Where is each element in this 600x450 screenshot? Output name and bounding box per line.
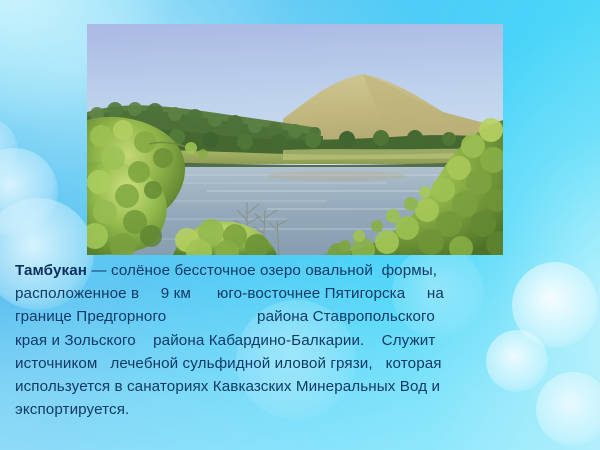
lake-photograph <box>87 24 503 255</box>
photo-hill-reflection <box>267 171 407 181</box>
caption-line-7: экспортируется. <box>15 398 587 421</box>
caption-lead-word: Тамбукан <box>15 262 87 279</box>
caption-line-1: — солёное бессточное озеро овальной форм… <box>87 262 437 279</box>
caption-line-5: источником лечебной сульфидной иловой гр… <box>15 352 587 375</box>
slide-caption: Тамбукан — солёное бессточное озеро овал… <box>15 259 587 421</box>
caption-line-4: края и Зольского района Кабардино-Балкар… <box>15 329 587 352</box>
lake-photograph-artwork <box>87 24 503 255</box>
caption-line-3: границе Предгорного района Ставропольско… <box>15 305 587 328</box>
slide-canvas: Тамбукан — солёное бессточное озеро овал… <box>0 0 600 450</box>
caption-line-6: используется в санаториях Кавказских Мин… <box>15 375 587 398</box>
caption-line-2: расположенное в 9 км юго-восточнее Пятиг… <box>15 282 587 305</box>
